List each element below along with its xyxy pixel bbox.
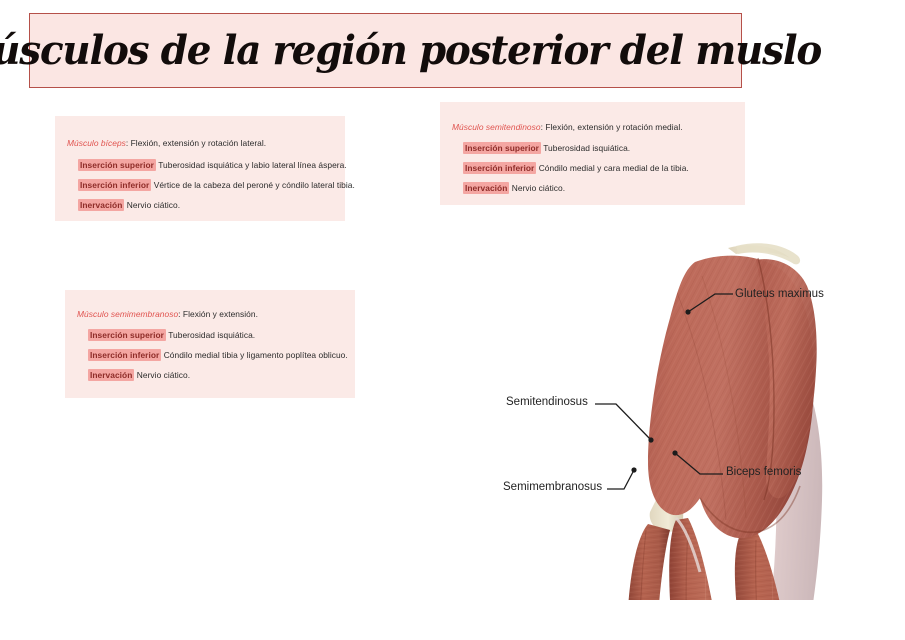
row-value: Tuberosidad isquiática.	[541, 143, 630, 153]
row-label: Inserción inferior	[78, 179, 151, 191]
note-row-inervacion: Inervación Nervio ciático.	[78, 201, 180, 211]
muscle-action: : Flexión, extensión y rotación lateral.	[126, 138, 266, 148]
label-semimembranosus: Semimembranosus	[503, 481, 602, 493]
note-row-insercion-superior: Inserción superior Tuberosidad isquiátic…	[78, 161, 347, 171]
row-value: Tuberosidad isquiática y labio lateral l…	[156, 160, 347, 170]
note-row-inervacion: Inervación Nervio ciático.	[88, 371, 190, 381]
note-row-insercion-superior: Inserción superior Tuberosidad isquiátic…	[463, 144, 630, 154]
note-card-semimembranoso: Músculo semimembranoso: Flexión y extens…	[65, 290, 355, 398]
note-card-biceps: Músculo bíceps: Flexión, extensión y rot…	[55, 116, 345, 221]
muscle-name: Músculo semitendinoso	[452, 122, 541, 132]
row-label: Inserción inferior	[88, 349, 161, 361]
row-value: Nervio ciático.	[134, 370, 190, 380]
row-value: Vértice de la cabeza del peroné y cóndil…	[151, 180, 355, 190]
row-value: Cóndilo medial tibia y ligamento poplíte…	[161, 350, 347, 360]
note-row-insercion-inferior: Inserción inferior Cóndilo medial tibia …	[88, 351, 348, 361]
row-label: Inervación	[78, 199, 124, 211]
card-title-row: Músculo semimembranoso: Flexión y extens…	[77, 310, 258, 320]
note-row-inervacion: Inervación Nervio ciático.	[463, 184, 565, 194]
row-value: Nervio ciático.	[124, 200, 180, 210]
row-label: Inserción superior	[78, 159, 156, 171]
row-label: Inervación	[463, 182, 509, 194]
page-title: Músculos de la región posterior del musl…	[0, 27, 821, 74]
row-value: Cóndilo medial y cara medial de la tibia…	[536, 163, 688, 173]
muscle-action: : Flexión, extensión y rotación medial.	[541, 122, 683, 132]
row-value: Tuberosidad isquiática.	[166, 330, 255, 340]
label-biceps-femoris: Biceps femoris	[726, 466, 801, 478]
note-row-insercion-inferior: Inserción inferior Vértice de la cabeza …	[78, 181, 355, 191]
row-label: Inserción inferior	[463, 162, 536, 174]
row-label: Inserción superior	[463, 142, 541, 154]
muscle-action: : Flexión y extensión.	[178, 309, 258, 319]
card-title-row: Músculo bíceps: Flexión, extensión y rot…	[67, 139, 266, 149]
label-semitendinosus: Semitendinosus	[506, 396, 588, 408]
note-row-insercion-inferior: Inserción inferior Cóndilo medial y cara…	[463, 164, 689, 174]
muscle-name: Músculo semimembranoso	[77, 309, 178, 319]
row-value: Nervio ciático.	[509, 183, 565, 193]
posterior-thigh-anatomy-illustration	[560, 200, 905, 600]
note-row-insercion-superior: Inserción superior Tuberosidad isquiátic…	[88, 331, 255, 341]
muscle-name: Músculo bíceps	[67, 138, 126, 148]
card-title-row: Músculo semitendinoso: Flexión, extensió…	[452, 123, 683, 133]
row-label: Inserción superior	[88, 329, 166, 341]
note-card-semitendinoso: Músculo semitendinoso: Flexión, extensió…	[440, 102, 745, 205]
label-gluteus-maximus: Gluteus maximus	[735, 288, 824, 300]
title-banner: Músculos de la región posterior del musl…	[29, 13, 742, 88]
row-label: Inervación	[88, 369, 134, 381]
